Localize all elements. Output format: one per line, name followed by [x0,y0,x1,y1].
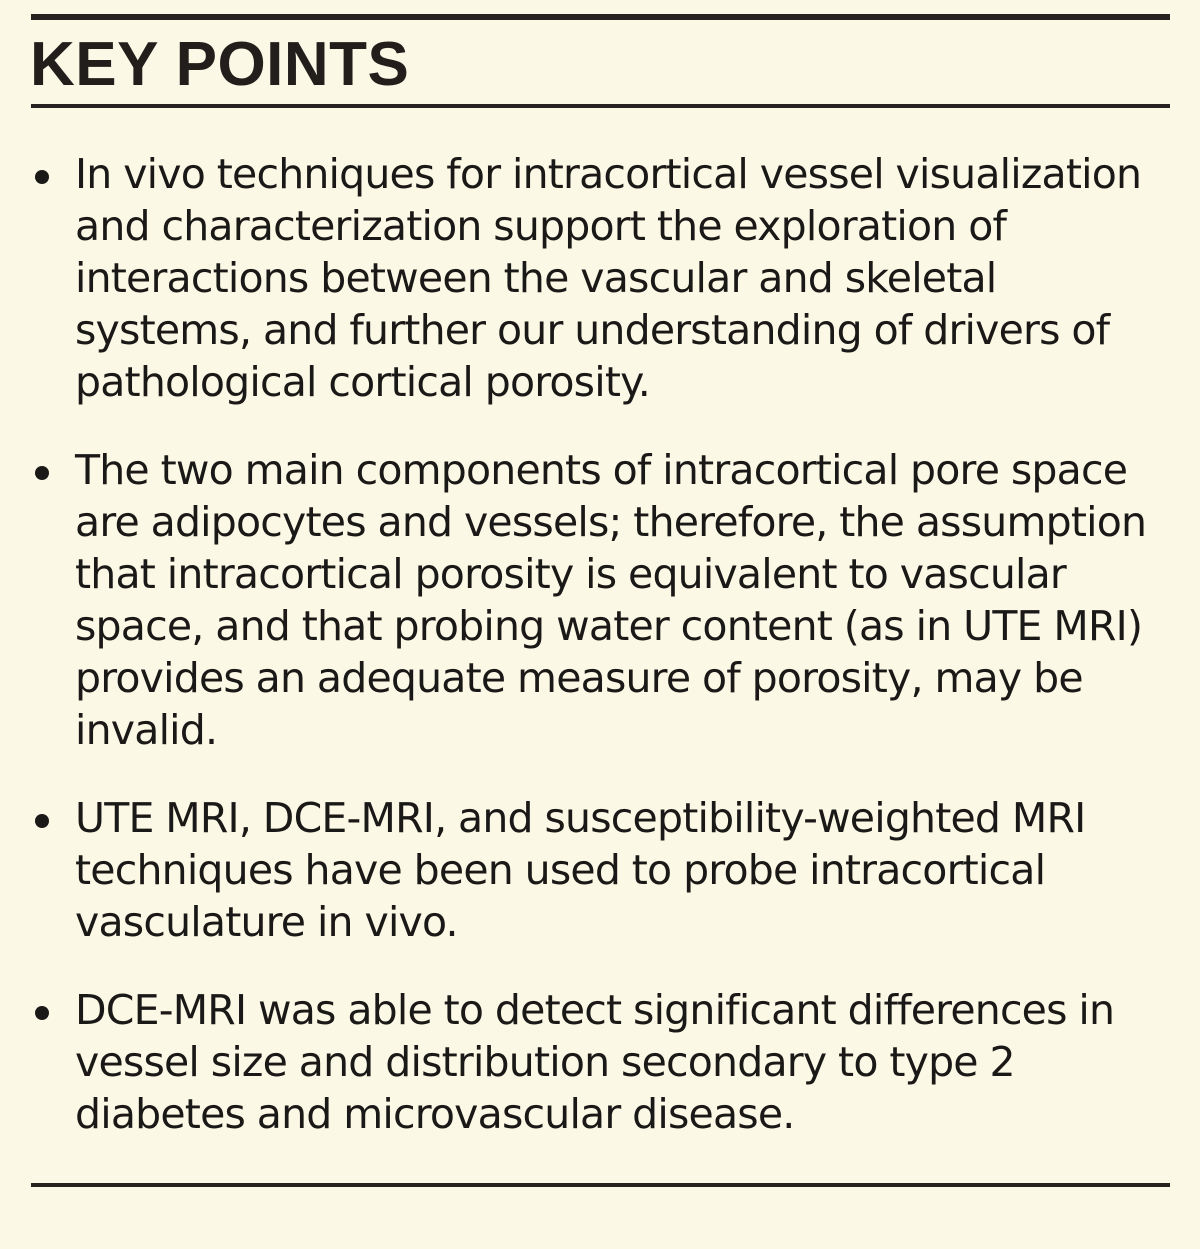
list-item: UTE MRI, DCE-MRI, and susceptibility-wei… [0,792,1200,948]
key-points-panel: KEY POINTS In vivo techniques for intrac… [0,0,1200,1249]
list-item-text: DCE-MRI was able to detect significant d… [75,984,1172,1140]
list-item-text: In vivo techniques for intracortical ves… [75,148,1172,408]
list-item-text: UTE MRI, DCE-MRI, and susceptibility-wei… [75,792,1172,948]
bullet-dot-icon [35,170,49,184]
title-underline-rule [31,104,1170,108]
top-divider-rule [31,14,1170,20]
page-title: KEY POINTS [30,34,409,96]
list-item-text: The two main components of intracortical… [75,444,1172,756]
list-item: In vivo techniques for intracortical ves… [0,148,1200,408]
key-points-list: In vivo techniques for intracortical ves… [0,148,1200,1140]
bottom-divider-rule [31,1183,1170,1187]
bullet-dot-icon [35,1006,49,1020]
bullet-dot-icon [35,466,49,480]
bullet-dot-icon [35,814,49,828]
list-item: DCE-MRI was able to detect significant d… [0,984,1200,1140]
list-item: The two main components of intracortical… [0,444,1200,756]
